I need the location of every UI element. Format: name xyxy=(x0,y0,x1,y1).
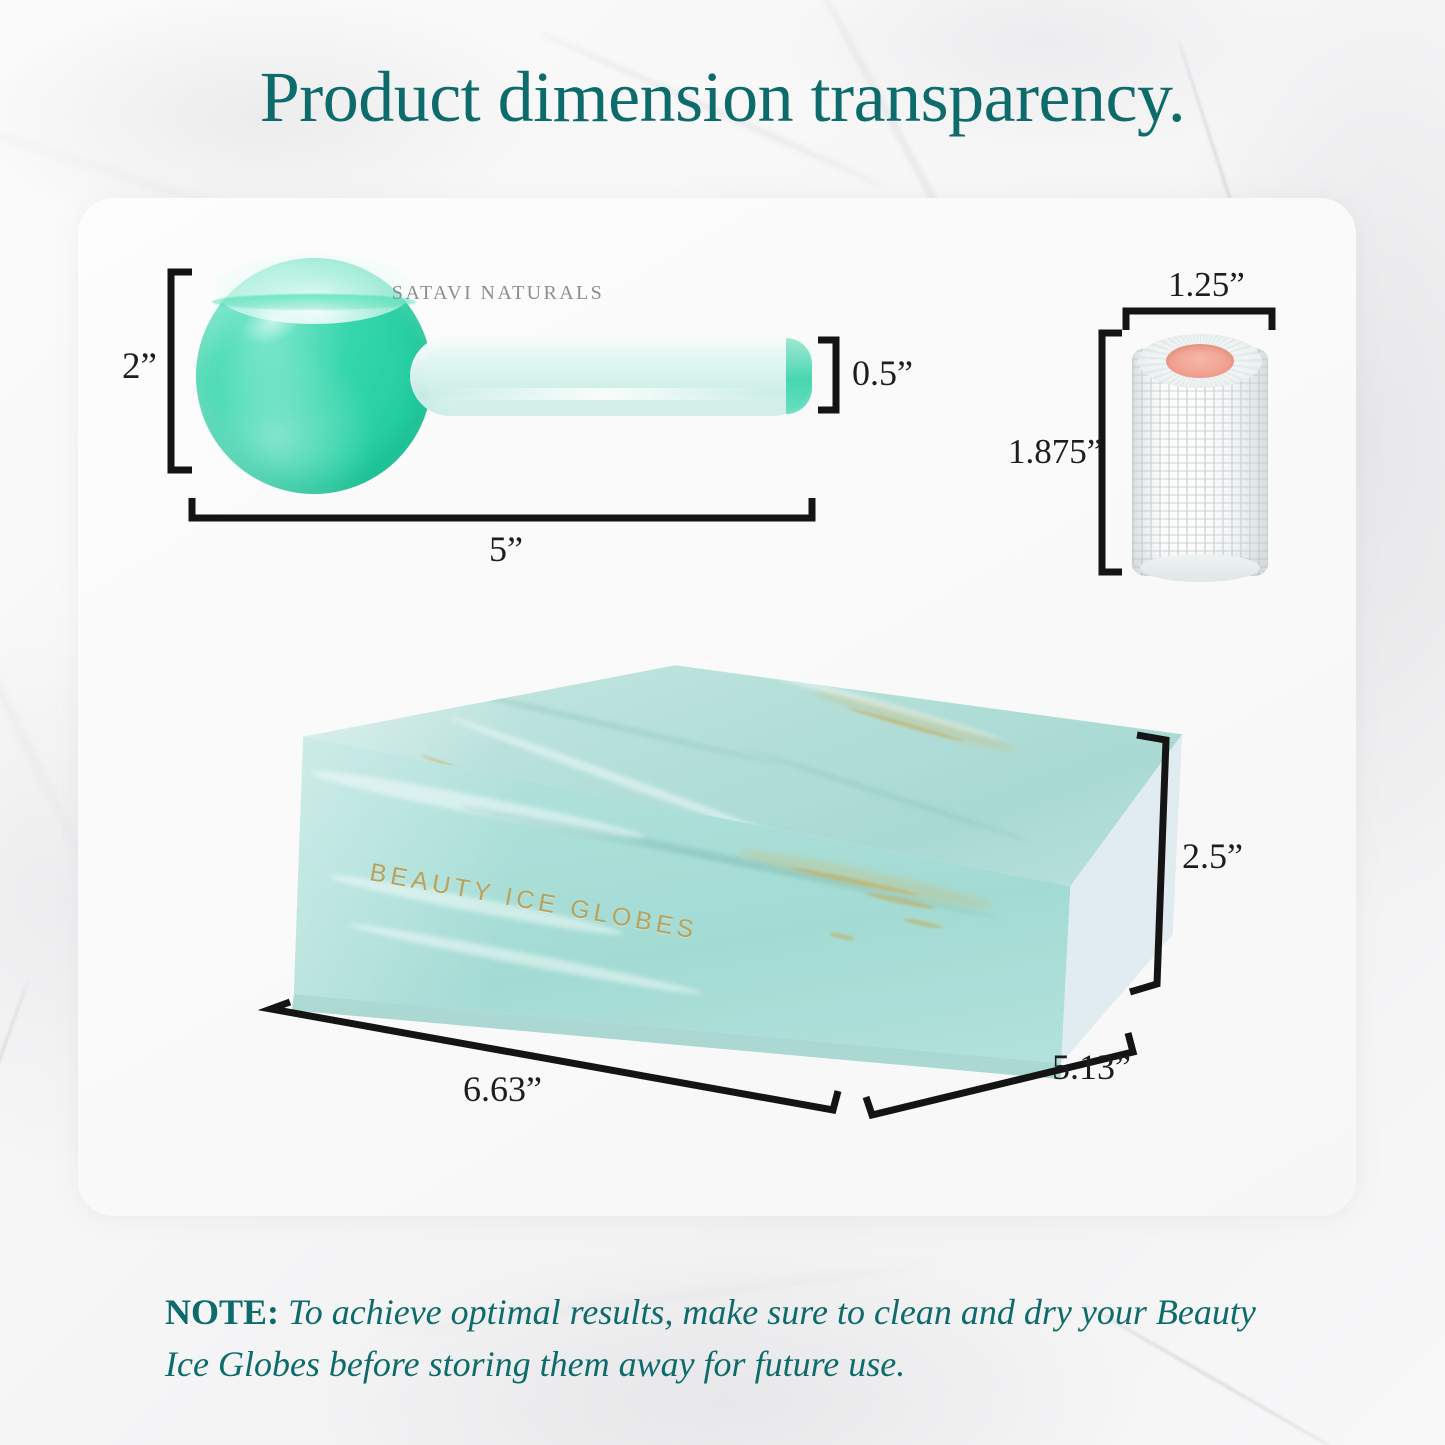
roller-bottom-edge xyxy=(1140,554,1260,582)
brand-label: SATAVI NATURALS xyxy=(196,282,800,305)
page-title: Product dimension transparency. xyxy=(0,56,1445,139)
note-text: NOTE: To achieve optimal results, make s… xyxy=(165,1286,1285,1390)
dim-label-roller-height: 1.875” xyxy=(1008,432,1102,472)
dim-label-roller-width: 1.25” xyxy=(1168,265,1245,305)
dim-label-box-width: 6.63” xyxy=(463,1068,542,1110)
ice-globe-handle xyxy=(410,336,812,416)
note-body: To achieve optimal results, make sure to… xyxy=(165,1292,1256,1384)
product-silicone-roller xyxy=(1132,330,1268,580)
note-prefix: NOTE: xyxy=(165,1292,279,1332)
roller-inner-cavity xyxy=(1166,344,1234,378)
product-ice-globe: SATAVI NATURALS xyxy=(196,258,826,498)
dim-label-globe-diameter: 0.5” xyxy=(852,352,913,394)
product-gift-box: BEAUTY ICE GLOBES xyxy=(252,640,1182,1100)
handle-gloss xyxy=(438,388,768,400)
dim-label-box-height: 2.5” xyxy=(1182,835,1243,877)
handle-tip xyxy=(786,338,812,414)
dim-label-globe-length: 5” xyxy=(489,528,523,570)
dim-label-box-depth: 5.13” xyxy=(1052,1046,1131,1088)
dim-label-globe-height: 2” xyxy=(122,345,157,388)
infographic-canvas: Product dimension transparency. SATAVI N… xyxy=(0,0,1445,1445)
